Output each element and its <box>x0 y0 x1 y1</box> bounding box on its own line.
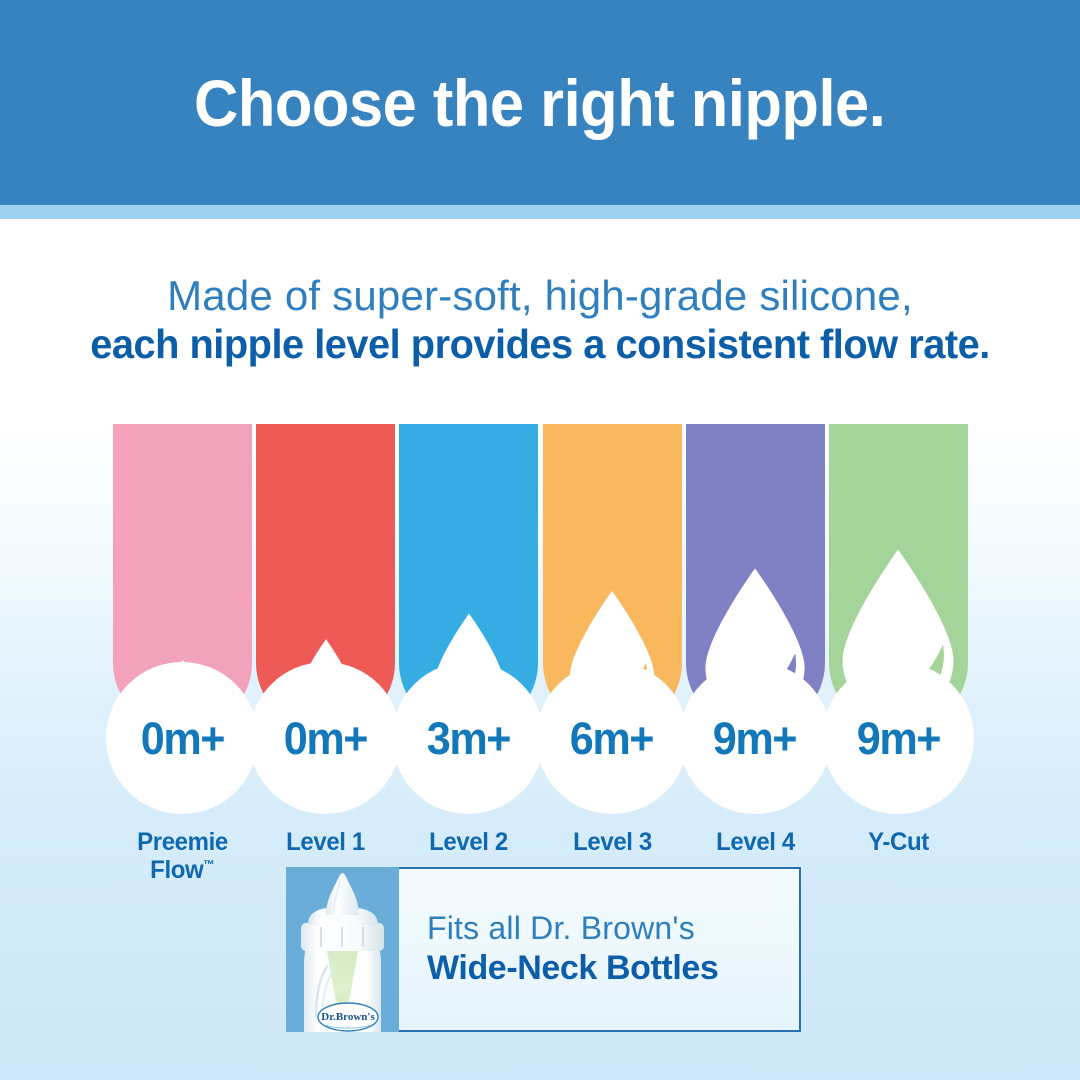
age-badge-label: 9m+ <box>713 716 796 761</box>
age-badge: 0m+ <box>106 662 258 814</box>
nipple-level-column[interactable]: 9m+Level 4 <box>686 424 824 844</box>
wide-neck-bottle-illustration: Dr.Brown's <box>286 867 399 1032</box>
level-label-line-1: Y-Cut <box>824 828 973 856</box>
level-label: Level 3 <box>538 828 687 856</box>
infographic-poster: Choose the right nipple. Made of super-s… <box>0 0 1080 1080</box>
level-label-line-1: Preemie <box>108 828 257 856</box>
age-badge: 9m+ <box>679 662 831 814</box>
header-band: Choose the right nipple. <box>0 0 1080 205</box>
age-badge: 0m+ <box>249 662 401 814</box>
age-badge-label: 0m+ <box>284 716 367 761</box>
age-badge: 6m+ <box>536 662 688 814</box>
callout-line-1: Fits all Dr. Brown's <box>427 910 799 948</box>
level-label-line-2: Flow™ <box>108 856 257 884</box>
level-label: Level 2 <box>394 828 543 856</box>
age-badge: 9m+ <box>822 662 974 814</box>
nipple-level-column[interactable]: 0m+PreemieFlow™ <box>113 424 251 844</box>
nipple-level-column[interactable]: 3m+Level 2 <box>399 424 537 844</box>
level-label: Level 4 <box>681 828 830 856</box>
age-badge: 3m+ <box>392 662 544 814</box>
age-badge-label: 9m+ <box>856 716 939 761</box>
trademark-symbol: ™ <box>203 858 215 872</box>
fits-bottles-callout: Dr.Brown's Fits all Dr. Brown's Wide-Nec… <box>286 867 801 1032</box>
brand-mark-text: Dr.Brown's <box>321 1011 375 1023</box>
age-badge-label: 0m+ <box>140 716 223 761</box>
level-label: Y-Cut <box>824 828 973 856</box>
page-title: Choose the right nipple. <box>194 70 885 136</box>
nipple-level-column[interactable]: 0m+Level 1 <box>256 424 394 844</box>
subtitle-block: Made of super-soft, high-grade silicone,… <box>0 272 1080 369</box>
level-label-line-1: Level 2 <box>394 828 543 856</box>
level-label: PreemieFlow™ <box>108 828 257 884</box>
subtitle-line-2: each nipple level provides a consistent … <box>16 320 1064 368</box>
level-label: Level 1 <box>251 828 400 856</box>
age-badge-label: 6m+ <box>570 716 653 761</box>
callout-text-box: Fits all Dr. Brown's Wide-Neck Bottles <box>399 867 801 1032</box>
nipple-level-column[interactable]: 6m+Level 3 <box>543 424 681 844</box>
callout-line-2: Wide-Neck Bottles <box>427 948 799 989</box>
subtitle-line-1: Made of super-soft, high-grade silicone, <box>0 272 1080 320</box>
age-badge-label: 3m+ <box>427 716 510 761</box>
bottle-photo: Dr.Brown's <box>286 867 399 1032</box>
nipple-level-column[interactable]: 9m+Y-Cut <box>829 424 967 844</box>
nipple-levels-row: 0m+PreemieFlow™0m+Level 13m+Level 26m+Le… <box>113 424 967 844</box>
level-label-line-1: Level 3 <box>538 828 687 856</box>
level-label-line-1: Level 4 <box>681 828 830 856</box>
level-label-line-1: Level 1 <box>251 828 400 856</box>
header-underline-divider <box>0 205 1080 219</box>
